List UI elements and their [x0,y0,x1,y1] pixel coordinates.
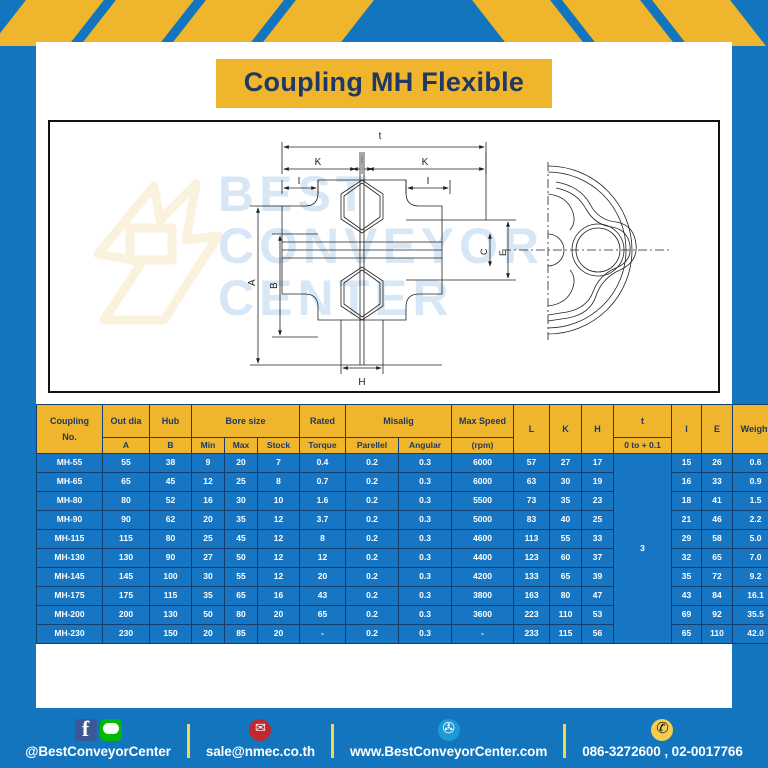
cell-k: 35 [550,492,582,511]
cell-rpm: - [452,625,514,644]
cell-model: MH-175 [37,587,103,606]
email-label: sale@nmec.co.th [206,744,315,759]
cell-e: 110 [702,625,733,644]
cell-l: 223 [514,606,550,625]
cell-i: 18 [672,492,702,511]
th-sub-stock: Stock [258,438,300,454]
th-h: H [582,405,614,454]
cell-angular: 0.3 [399,549,452,568]
line-icon[interactable] [100,719,122,741]
cell-weight: 5.0 [733,530,768,549]
table-header-row-1: Coupling No. Out dia Hub Bore size Rated… [37,405,768,438]
cell-b: 62 [150,511,192,530]
specification-table-wrap: Coupling No. Out dia Hub Bore size Rated… [36,404,732,644]
contact-email[interactable]: sale@nmec.co.th [200,718,321,759]
cell-i: 65 [672,625,702,644]
cell-k: 80 [550,587,582,606]
top-chevron-decoration [0,0,768,46]
th-max-speed: Max Speed [452,405,514,438]
th-sub-max: Max [225,438,258,454]
cell-torque: 3.7 [300,511,346,530]
cell-max: 50 [225,549,258,568]
cell-a: 90 [103,511,150,530]
cell-angular: 0.3 [399,587,452,606]
dim-label-i-right: I [427,176,430,187]
dim-label-b: B [269,282,280,289]
footer-divider [563,724,566,758]
th-sub-angular: Angular [399,438,452,454]
th-rated: Rated [300,405,346,438]
cell-min: 9 [192,454,225,473]
cell-h: 25 [582,511,614,530]
cell-rpm: 4400 [452,549,514,568]
cell-k: 65 [550,568,582,587]
th-weight: Weight [733,405,768,454]
cell-stock: 12 [258,530,300,549]
phone-icon[interactable] [651,719,673,741]
cell-weight: 42.0 [733,625,768,644]
website-icon[interactable] [438,719,460,741]
cell-l: 113 [514,530,550,549]
cell-angular: 0.3 [399,568,452,587]
cell-h: 47 [582,587,614,606]
cell-l: 123 [514,549,550,568]
cell-angular: 0.3 [399,606,452,625]
cell-min: 25 [192,530,225,549]
th-l: L [514,405,550,454]
page-title: Coupling MH Flexible [216,59,553,108]
cell-rpm: 6000 [452,454,514,473]
cell-torque: - [300,625,346,644]
dim-label-a: A [247,279,258,286]
cell-a: 230 [103,625,150,644]
cell-model: MH-115 [37,530,103,549]
table-header-row-2: A B Min Max Stock Torque Parellel Angula… [37,438,768,454]
cell-weight: 0.6 [733,454,768,473]
cell-weight: 35.5 [733,606,768,625]
cell-b: 150 [150,625,192,644]
cell-parellel: 0.2 [346,492,399,511]
cell-max: 35 [225,511,258,530]
cell-l: 83 [514,511,550,530]
cell-max: 65 [225,587,258,606]
cell-h: 33 [582,530,614,549]
th-sub-a: A [103,438,150,454]
cell-parellel: 0.2 [346,587,399,606]
th-i: I [672,405,702,454]
th-coupling-line2: No. [37,432,102,442]
cell-h: 53 [582,606,614,625]
cell-stock: 12 [258,549,300,568]
cell-weight: 2.2 [733,511,768,530]
cell-k: 40 [550,511,582,530]
cell-b: 52 [150,492,192,511]
cell-rpm: 6000 [452,473,514,492]
website-icons [438,718,460,742]
cell-torque: 8 [300,530,346,549]
cell-k: 110 [550,606,582,625]
contact-facebook[interactable]: @BestConveyorCenter [19,718,177,759]
cell-e: 26 [702,454,733,473]
website-label: www.BestConveyorCenter.com [350,744,547,759]
cell-k: 60 [550,549,582,568]
cell-angular: 0.3 [399,473,452,492]
cell-rpm: 3800 [452,587,514,606]
cell-i: 35 [672,568,702,587]
th-sub-parellel: Parellel [346,438,399,454]
cell-weight: 1.5 [733,492,768,511]
cell-i: 16 [672,473,702,492]
th-misalig: Misalig [346,405,452,438]
dim-label-k-left: K [315,157,322,168]
cell-min: 20 [192,511,225,530]
coupling-dimension-drawing: t K K I I I H A B C E [50,122,720,393]
cell-b: 115 [150,587,192,606]
cell-h: 23 [582,492,614,511]
cell-i: 15 [672,454,702,473]
cell-b: 45 [150,473,192,492]
cell-l: 233 [514,625,550,644]
cell-a: 130 [103,549,150,568]
cell-i: 29 [672,530,702,549]
cell-k: 27 [550,454,582,473]
email-icon[interactable] [249,719,271,741]
cell-rpm: 5500 [452,492,514,511]
cell-b: 100 [150,568,192,587]
cell-a: 115 [103,530,150,549]
cell-min: 12 [192,473,225,492]
cell-i: 43 [672,587,702,606]
coupling-specification-table: Coupling No. Out dia Hub Bore size Rated… [36,404,768,644]
cell-i: 69 [672,606,702,625]
cell-l: 57 [514,454,550,473]
cell-e: 58 [702,530,733,549]
cell-e: 46 [702,511,733,530]
cell-parellel: 0.2 [346,473,399,492]
cell-l: 63 [514,473,550,492]
cell-stock: 20 [258,625,300,644]
cell-e: 41 [702,492,733,511]
dim-label-h: H [358,377,365,388]
cell-model: MH-65 [37,473,103,492]
cell-e: 65 [702,549,733,568]
cell-parellel: 0.2 [346,606,399,625]
cell-rpm: 4200 [452,568,514,587]
th-bore-size: Bore size [192,405,300,438]
cell-torque: 0.4 [300,454,346,473]
cell-h: 39 [582,568,614,587]
cell-parellel: 0.2 [346,549,399,568]
cell-torque: 43 [300,587,346,606]
cell-angular: 0.3 [399,511,452,530]
cell-b: 80 [150,530,192,549]
th-t: t [614,405,672,438]
cell-stock: 10 [258,492,300,511]
cell-parellel: 0.2 [346,530,399,549]
th-sub-t-tol: 0 to + 0.1 [614,438,672,454]
cell-h: 37 [582,549,614,568]
cell-a: 200 [103,606,150,625]
cell-h: 17 [582,454,614,473]
cell-b: 90 [150,549,192,568]
cell-parellel: 0.2 [346,454,399,473]
cell-angular: 0.3 [399,454,452,473]
footer-divider [187,724,190,758]
footer-divider [331,724,334,758]
cell-i: 32 [672,549,702,568]
cell-l: 163 [514,587,550,606]
cell-t-merged: 3 [614,454,672,644]
cell-rpm: 5000 [452,511,514,530]
cell-parellel: 0.2 [346,625,399,644]
cell-e: 72 [702,568,733,587]
cell-model: MH-230 [37,625,103,644]
th-sub-b: B [150,438,192,454]
th-out-dia: Out dia [103,405,150,438]
cell-b: 38 [150,454,192,473]
cell-model: MH-200 [37,606,103,625]
content-sheet: Coupling MH Flexible BEST CONVEYOR CENTE… [36,42,732,708]
cell-stock: 7 [258,454,300,473]
facebook-label: @BestConveyorCenter [25,744,171,759]
cell-max: 45 [225,530,258,549]
cell-a: 65 [103,473,150,492]
th-sub-min: Min [192,438,225,454]
th-e: E [702,405,733,454]
cell-model: MH-145 [37,568,103,587]
cell-model: MH-80 [37,492,103,511]
cell-i: 21 [672,511,702,530]
facebook-line-icons [75,718,122,742]
cell-min: 16 [192,492,225,511]
table-body: MH-55 55 38 9 20 7 0.4 0.2 0.3 6000 57 2… [37,454,768,644]
cell-max: 85 [225,625,258,644]
th-coupling-line1: Coupling [37,416,102,426]
cell-max: 30 [225,492,258,511]
cell-min: 30 [192,568,225,587]
cell-model: MH-130 [37,549,103,568]
page-title-wrap: Coupling MH Flexible [36,42,732,108]
cell-stock: 12 [258,568,300,587]
cell-stock: 20 [258,606,300,625]
cell-min: 20 [192,625,225,644]
facebook-icon[interactable] [75,719,97,741]
th-k: K [550,405,582,454]
email-icons [249,718,271,742]
cell-weight: 7.0 [733,549,768,568]
cell-weight: 16.1 [733,587,768,606]
cell-torque: 1.6 [300,492,346,511]
cell-h: 19 [582,473,614,492]
cell-k: 55 [550,530,582,549]
technical-drawing-frame: BEST CONVEYOR CENTER [48,120,720,393]
cell-stock: 8 [258,473,300,492]
cell-rpm: 4600 [452,530,514,549]
cell-l: 133 [514,568,550,587]
cell-l: 73 [514,492,550,511]
cell-max: 80 [225,606,258,625]
dim-label-e: E [498,250,508,256]
dim-label-i-left: I [298,176,301,187]
cell-stock: 16 [258,587,300,606]
cell-k: 115 [550,625,582,644]
cell-angular: 0.3 [399,492,452,511]
dim-label-k-right: K [422,157,429,168]
th-sub-rpm: (rpm) [452,438,514,454]
cell-angular: 0.3 [399,625,452,644]
footer-contact-bar: @BestConveyorCenter sale@nmec.co.th www.… [0,708,768,768]
cell-stock: 12 [258,511,300,530]
cell-e: 84 [702,587,733,606]
cell-angular: 0.3 [399,530,452,549]
th-coupling-no: Coupling No. [37,405,103,454]
cell-max: 20 [225,454,258,473]
cell-torque: 0.7 [300,473,346,492]
cell-a: 175 [103,587,150,606]
th-hub: Hub [150,405,192,438]
phone-icons [651,718,673,742]
cell-torque: 12 [300,549,346,568]
cell-max: 25 [225,473,258,492]
cell-a: 145 [103,568,150,587]
cell-parellel: 0.2 [346,511,399,530]
cell-min: 27 [192,549,225,568]
cell-min: 35 [192,587,225,606]
dim-label-c: C [479,248,489,255]
cell-torque: 65 [300,606,346,625]
cell-weight: 9.2 [733,568,768,587]
contact-website[interactable]: www.BestConveyorCenter.com [344,718,553,759]
cell-min: 50 [192,606,225,625]
cell-rpm: 3600 [452,606,514,625]
dim-label-i-center: I [361,155,364,166]
cell-torque: 20 [300,568,346,587]
cell-max: 55 [225,568,258,587]
th-sub-torque: Torque [300,438,346,454]
phone-label: 086-3272600 , 02-0017766 [582,744,743,759]
cell-model: MH-90 [37,511,103,530]
dim-label-t: t [379,131,382,142]
cell-b: 130 [150,606,192,625]
cell-h: 56 [582,625,614,644]
cell-a: 80 [103,492,150,511]
cell-parellel: 0.2 [346,568,399,587]
cell-model: MH-55 [37,454,103,473]
cell-weight: 0.9 [733,473,768,492]
contact-phone[interactable]: 086-3272600 , 02-0017766 [576,718,749,759]
table-row: MH-55 55 38 9 20 7 0.4 0.2 0.3 6000 57 2… [37,454,768,473]
cell-a: 55 [103,454,150,473]
cell-k: 30 [550,473,582,492]
cell-e: 33 [702,473,733,492]
cell-e: 92 [702,606,733,625]
